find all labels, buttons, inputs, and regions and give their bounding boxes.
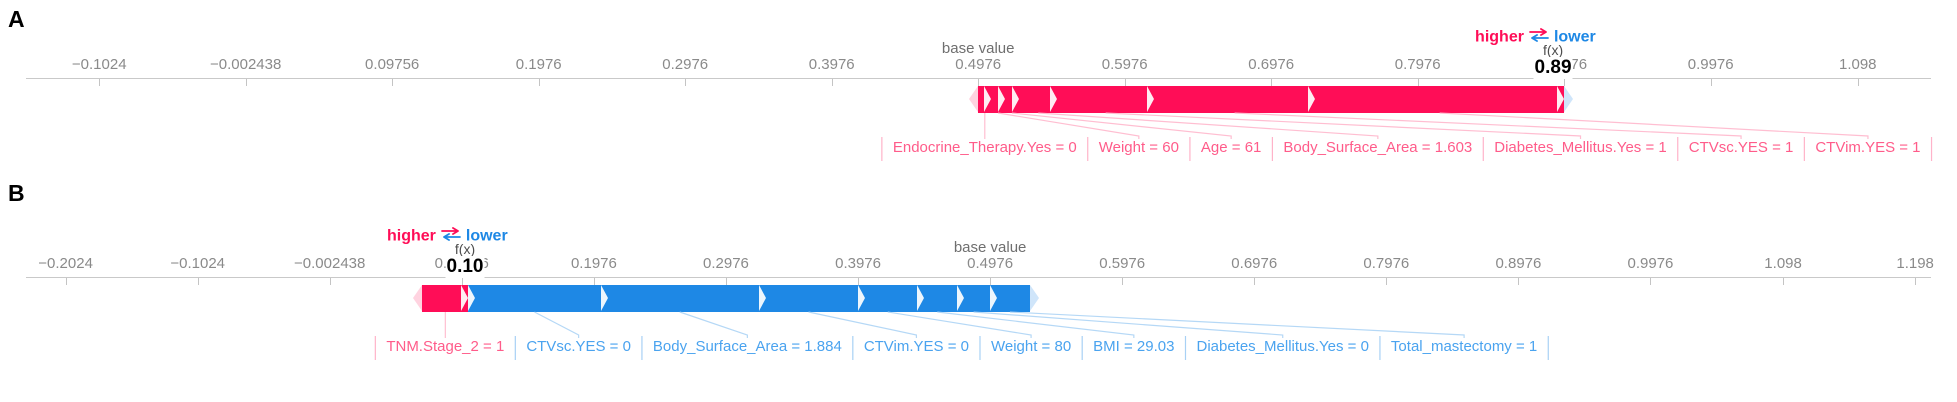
axis-tick (858, 278, 859, 285)
legend-higher-label: higher (387, 228, 436, 245)
force-segment-divider (1050, 86, 1057, 112)
axis-tick (66, 278, 67, 285)
axis-tick (1418, 79, 1419, 86)
force-segment-divider (858, 285, 865, 311)
force-segment-divider (1557, 86, 1564, 112)
axis-tick (1386, 278, 1387, 285)
axis-tick-label: −0.1024 (170, 255, 225, 272)
axis-tick (1858, 79, 1859, 86)
axis-tick (685, 79, 686, 86)
fx-value-a: 0.89 (1534, 57, 1573, 79)
axis-tick-label: 0.3976 (809, 56, 855, 73)
label-leaders-a (0, 113, 1957, 163)
axis-tick (1122, 278, 1123, 285)
axis-tick (1711, 79, 1712, 86)
force-bar-b (0, 285, 1957, 312)
force-bar-a (0, 86, 1957, 113)
axis-tick-label: 0.5976 (1099, 255, 1145, 272)
panel-b: B higher lower base value f(x) 0.10 −0.2… (0, 190, 1957, 402)
axis-line-b (26, 277, 1931, 278)
force-segment (858, 285, 917, 312)
axis-tick-label: 0.5976 (1102, 56, 1148, 73)
axis-tick-label: 0.8976 (1495, 255, 1541, 272)
axis-tick (1783, 278, 1784, 285)
force-segment-divider (461, 285, 468, 311)
axis-tick-label: 0.2976 (703, 255, 749, 272)
axis-tick-label: 0.6976 (1231, 255, 1277, 272)
axis-tick (1125, 79, 1126, 86)
axis-tick-label: −0.002438 (294, 255, 365, 272)
force-bar-left-cap (413, 285, 422, 311)
force-segment (1154, 86, 1315, 113)
axis-tick (246, 79, 247, 86)
higher-lower-legend-b: higher lower (387, 227, 508, 246)
base-value-caption-b: base value (954, 239, 1027, 256)
axis-tick (832, 79, 833, 86)
axis-tick (594, 278, 595, 285)
force-segment-divider (917, 285, 924, 311)
axis-tick-label: 0.6976 (1248, 56, 1294, 73)
force-segment (468, 285, 600, 312)
axis-tick-label: −0.002438 (210, 56, 281, 73)
axis-tick (1915, 278, 1916, 285)
axis-tick (330, 278, 331, 285)
axis-tick-label: 0.4976 (955, 56, 1001, 73)
panel-letter-a: A (8, 8, 25, 31)
axis-tick-label: 0.4976 (967, 255, 1013, 272)
force-segment-divider (1147, 86, 1154, 112)
force-bar-right-cap (1030, 285, 1039, 311)
force-segment-divider (990, 285, 997, 311)
axis-tick (1271, 79, 1272, 86)
axis-tick-label: 0.9976 (1688, 56, 1734, 73)
axis-tick-label: 0.7976 (1395, 56, 1441, 73)
legend-higher-label: higher (1475, 29, 1524, 46)
force-segment-divider (957, 285, 964, 311)
axis-tick-label: 1.098 (1764, 255, 1802, 272)
axis-tick-label: 1.098 (1839, 56, 1877, 73)
axis-tick (1518, 278, 1519, 285)
axis-tick-label: 0.09756 (365, 56, 419, 73)
axis-tick (539, 79, 540, 86)
force-segment (1315, 86, 1564, 113)
axis-tick (198, 278, 199, 285)
axis-tick-label: −0.1024 (72, 56, 127, 73)
force-segment-divider (1308, 86, 1315, 112)
axis-tick (1254, 278, 1255, 285)
fx-value-b: 0.10 (446, 256, 485, 278)
axis-tick (392, 79, 393, 86)
axis-tick (462, 278, 463, 285)
axis-tick (99, 79, 100, 86)
force-segment-divider (998, 86, 1005, 112)
axis-tick-label: 0.1976 (571, 255, 617, 272)
axis-tick (978, 79, 979, 86)
force-segment-divider (984, 86, 991, 112)
axis-tick-label: 0.9976 (1628, 255, 1674, 272)
force-bar-right-cap (1564, 86, 1573, 112)
axis-tick-label: 1.198 (1896, 255, 1934, 272)
axis-tick-label: 0.7976 (1363, 255, 1409, 272)
axis-tick (1564, 79, 1565, 86)
axis-tick (990, 278, 991, 285)
panel-letter-b: B (8, 182, 25, 205)
force-segment-divider (601, 285, 608, 311)
force-segment (759, 285, 858, 312)
axis-tick (726, 278, 727, 285)
axis-tick-label: 0.3976 (835, 255, 881, 272)
axis-tick (1650, 278, 1651, 285)
force-segment-divider (759, 285, 766, 311)
force-segment-divider (1012, 86, 1019, 112)
panel-a: A higher lower base value f(x) 0.89 −0.1… (0, 0, 1957, 190)
base-value-caption-a: base value (942, 40, 1015, 57)
force-segment (601, 285, 759, 312)
force-segment (1057, 86, 1154, 113)
label-leaders-b (0, 312, 1957, 362)
higher-lower-legend-a: higher lower (1475, 28, 1596, 47)
force-bar-left-cap (969, 86, 978, 112)
axis-tick-label: 0.2976 (662, 56, 708, 73)
axis-tick-label: 0.1976 (516, 56, 562, 73)
axis-tick-label: −0.2024 (38, 255, 93, 272)
force-segment-divider (468, 285, 475, 311)
